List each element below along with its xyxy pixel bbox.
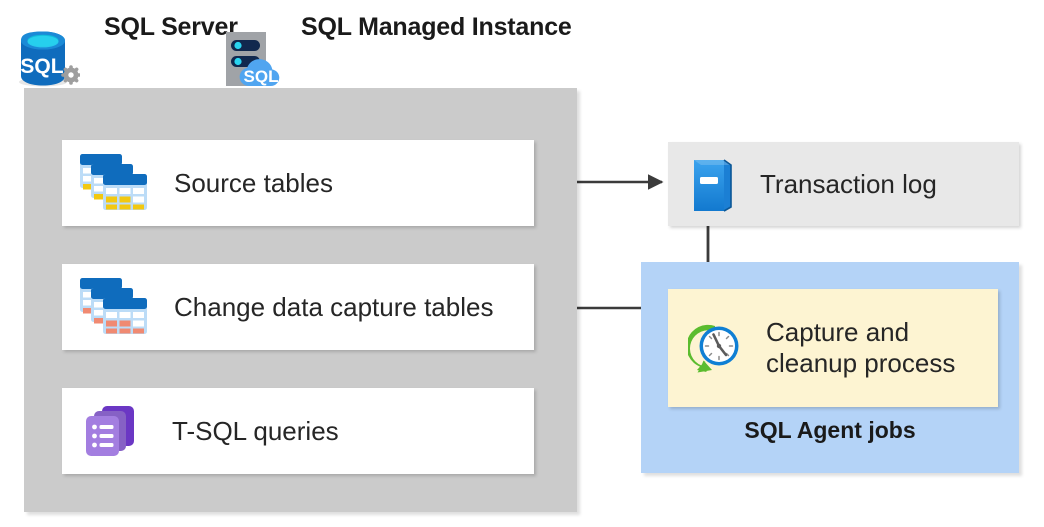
t-sql-queries-icon: [78, 402, 144, 460]
change-data-capture-tables-label: Change data capture tables: [174, 292, 493, 323]
cdc-tables-icon: [78, 276, 150, 338]
sql-server-platform-header: SQL SQL Server: [14, 24, 238, 88]
source-tables-card[interactable]: Source tables: [62, 140, 534, 226]
sql-managed-instance-platform-header: SQL SQL Managed Instance: [221, 24, 572, 88]
change-data-capture-tables-card[interactable]: Change data capture tables: [62, 264, 534, 350]
t-sql-queries-card[interactable]: T-SQL queries: [62, 388, 534, 474]
sql-server-platform-label: SQL Server: [104, 13, 238, 41]
source-tables-icon: [78, 152, 150, 214]
capture-and-cleanup-process-label: Capture and cleanup process: [766, 317, 955, 378]
svg-text:SQL: SQL: [20, 55, 63, 78]
t-sql-queries-label: T-SQL queries: [172, 416, 339, 447]
transaction-log-book-icon: [688, 156, 738, 212]
sql-server-database-icon: SQL: [14, 24, 80, 88]
sql-agent-jobs-caption: SQL Agent jobs: [641, 417, 1019, 444]
transaction-log-label: Transaction log: [760, 169, 937, 200]
capture-and-cleanup-process-card[interactable]: Capture and cleanup process: [668, 289, 998, 407]
sql-managed-instance-platform-label: SQL Managed Instance: [301, 13, 572, 41]
transaction-log-card[interactable]: Transaction log: [668, 142, 1019, 226]
clock-refresh-icon: [688, 320, 744, 376]
sql-managed-instance-icon: SQL: [221, 24, 285, 88]
cdc-architecture-diagram: SQL SQL Server: [0, 0, 1044, 527]
svg-text:SQL: SQL: [244, 67, 279, 86]
source-tables-label: Source tables: [174, 168, 333, 199]
